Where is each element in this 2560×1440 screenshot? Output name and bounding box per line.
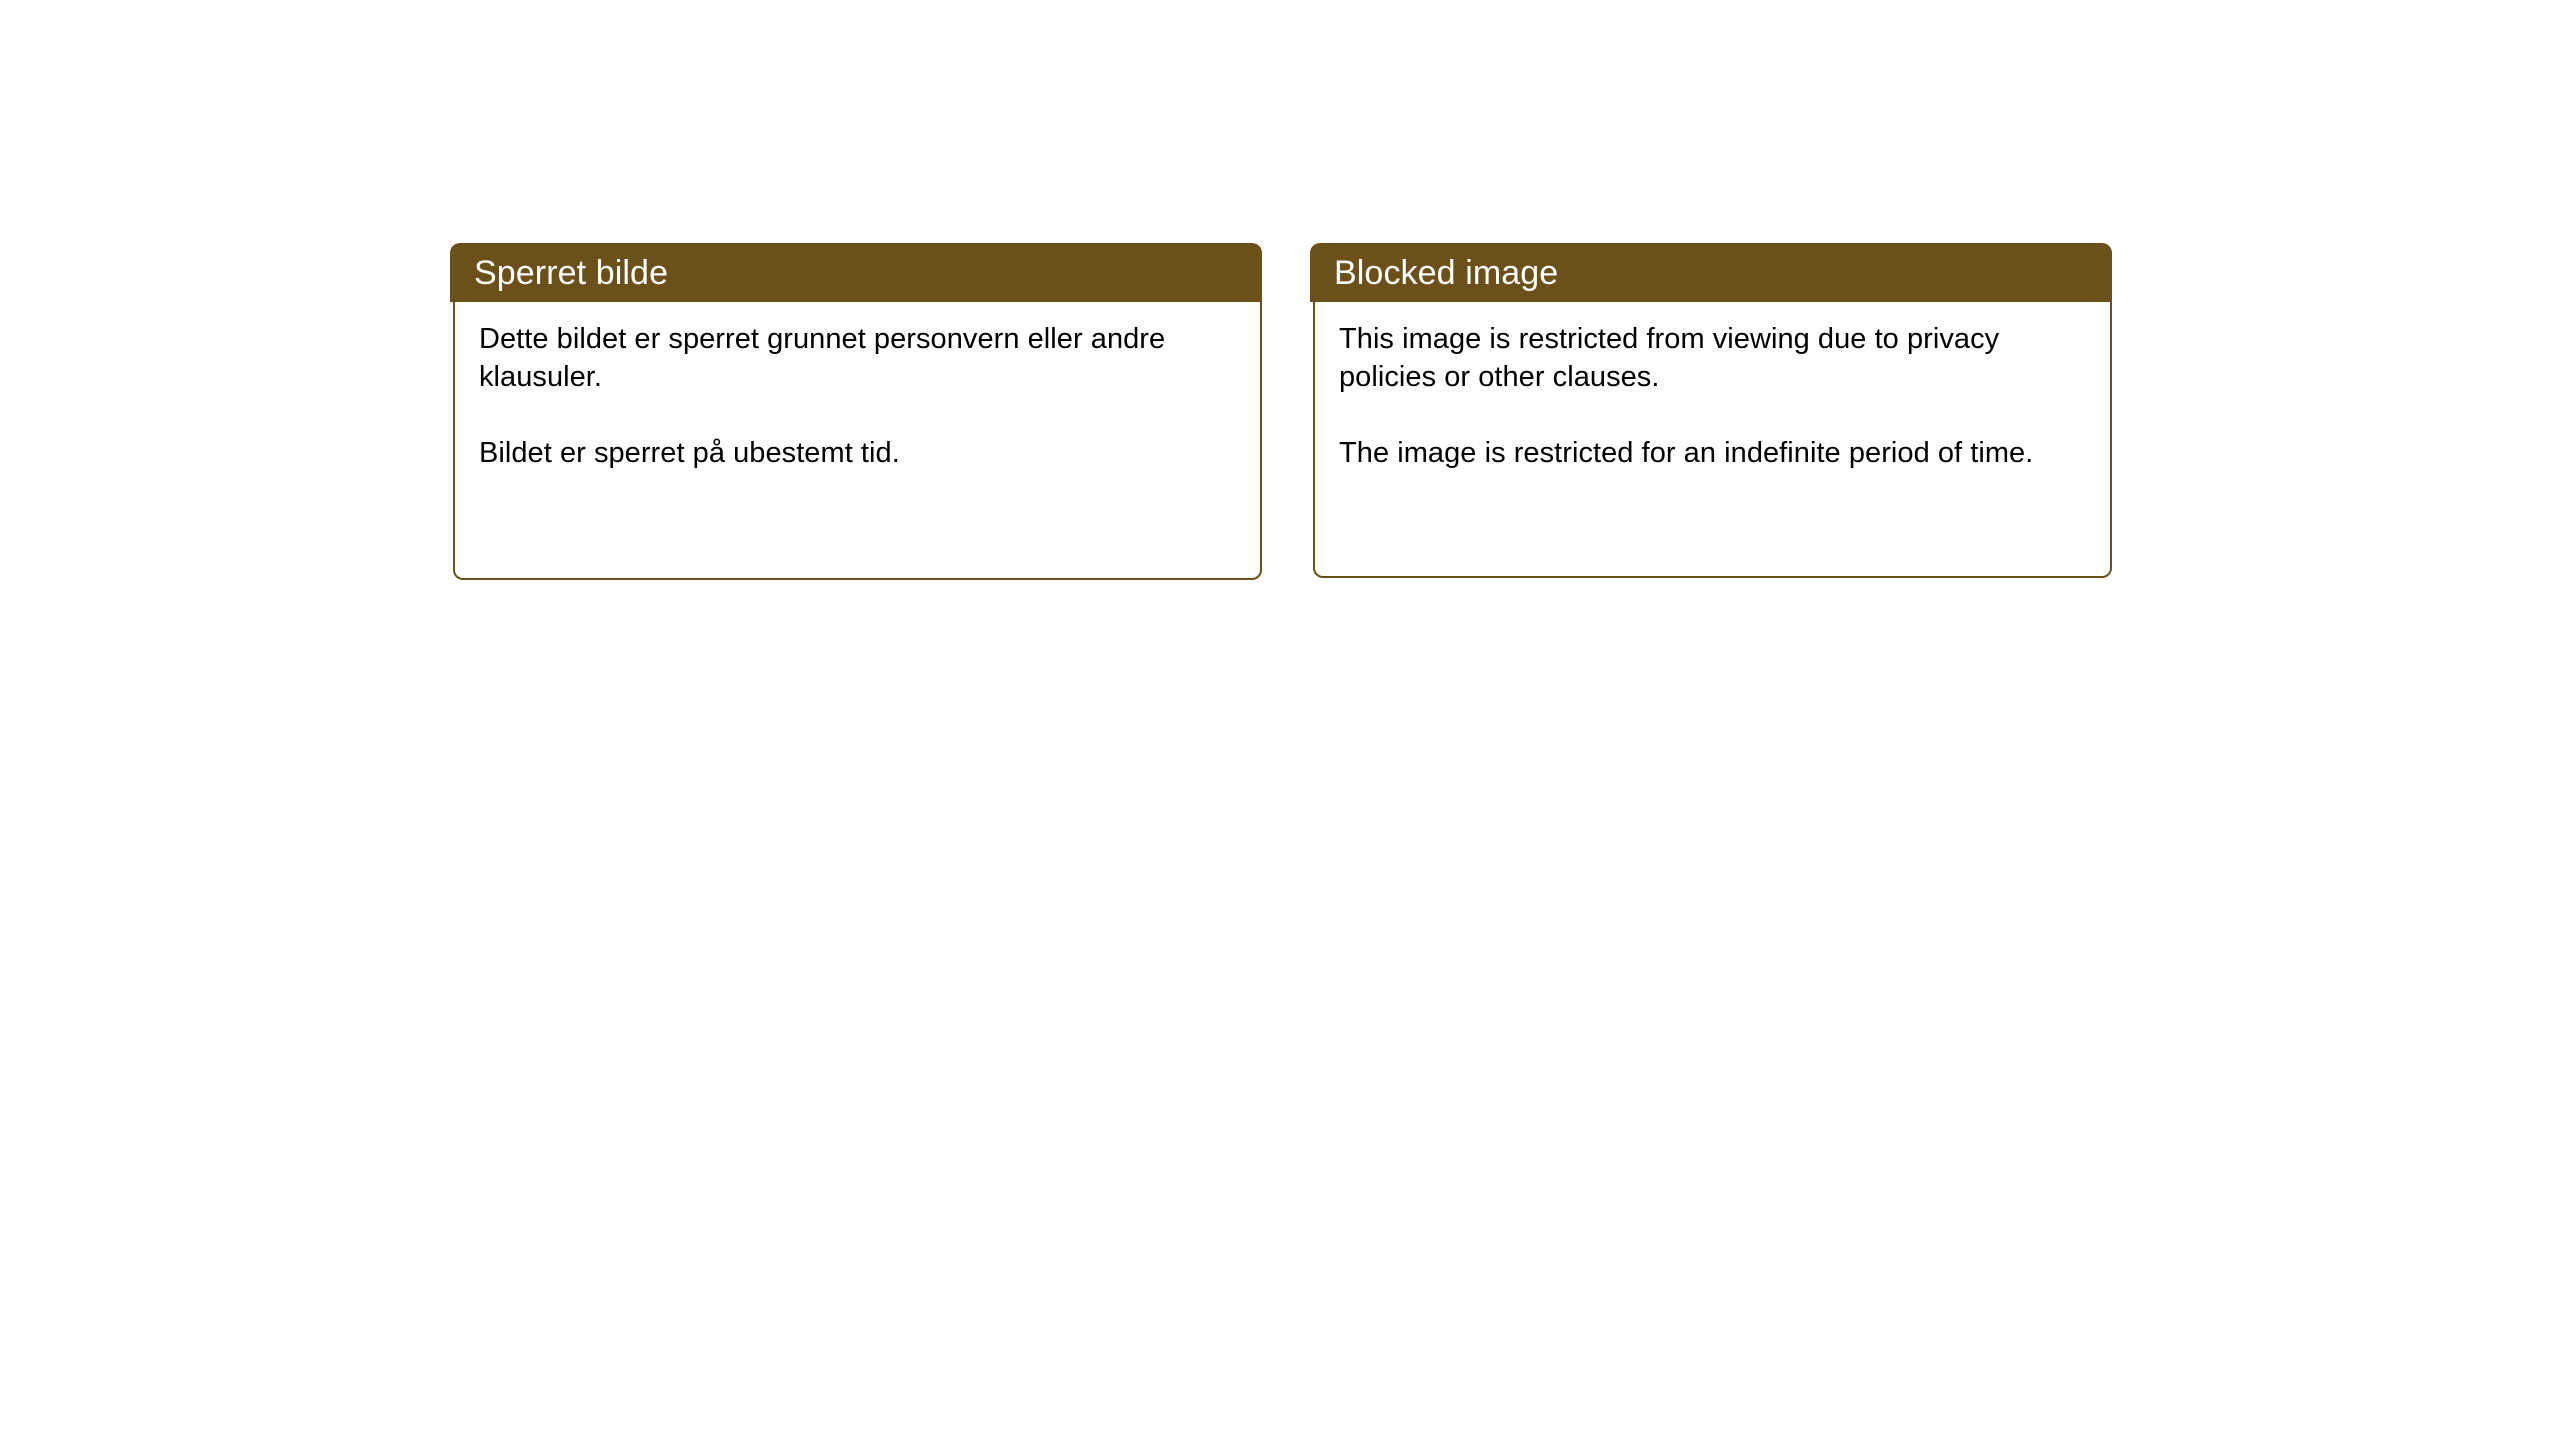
card-paragraph-duration-english: The image is restricted for an indefinit… xyxy=(1339,434,2086,472)
card-title-english: Blocked image xyxy=(1334,253,1558,293)
card-paragraph-duration-norwegian: Bildet er sperret på ubestemt tid. xyxy=(479,434,1236,472)
card-paragraph-reason-norwegian: Dette bildet er sperret grunnet personve… xyxy=(479,320,1236,396)
card-body-norwegian: Dette bildet er sperret grunnet personve… xyxy=(453,302,1262,580)
card-header-norwegian: Sperret bilde xyxy=(450,243,1262,302)
card-body-english: This image is restricted from viewing du… xyxy=(1313,302,2112,578)
blocked-image-card-norwegian: Sperret bilde Dette bildet er sperret gr… xyxy=(450,243,1262,580)
card-title-norwegian: Sperret bilde xyxy=(474,253,668,293)
card-header-english: Blocked image xyxy=(1310,243,2112,302)
blocked-image-card-english: Blocked image This image is restricted f… xyxy=(1310,243,2112,578)
card-paragraph-reason-english: This image is restricted from viewing du… xyxy=(1339,320,2086,396)
blocked-image-notice-area: Sperret bilde Dette bildet er sperret gr… xyxy=(450,243,2130,583)
